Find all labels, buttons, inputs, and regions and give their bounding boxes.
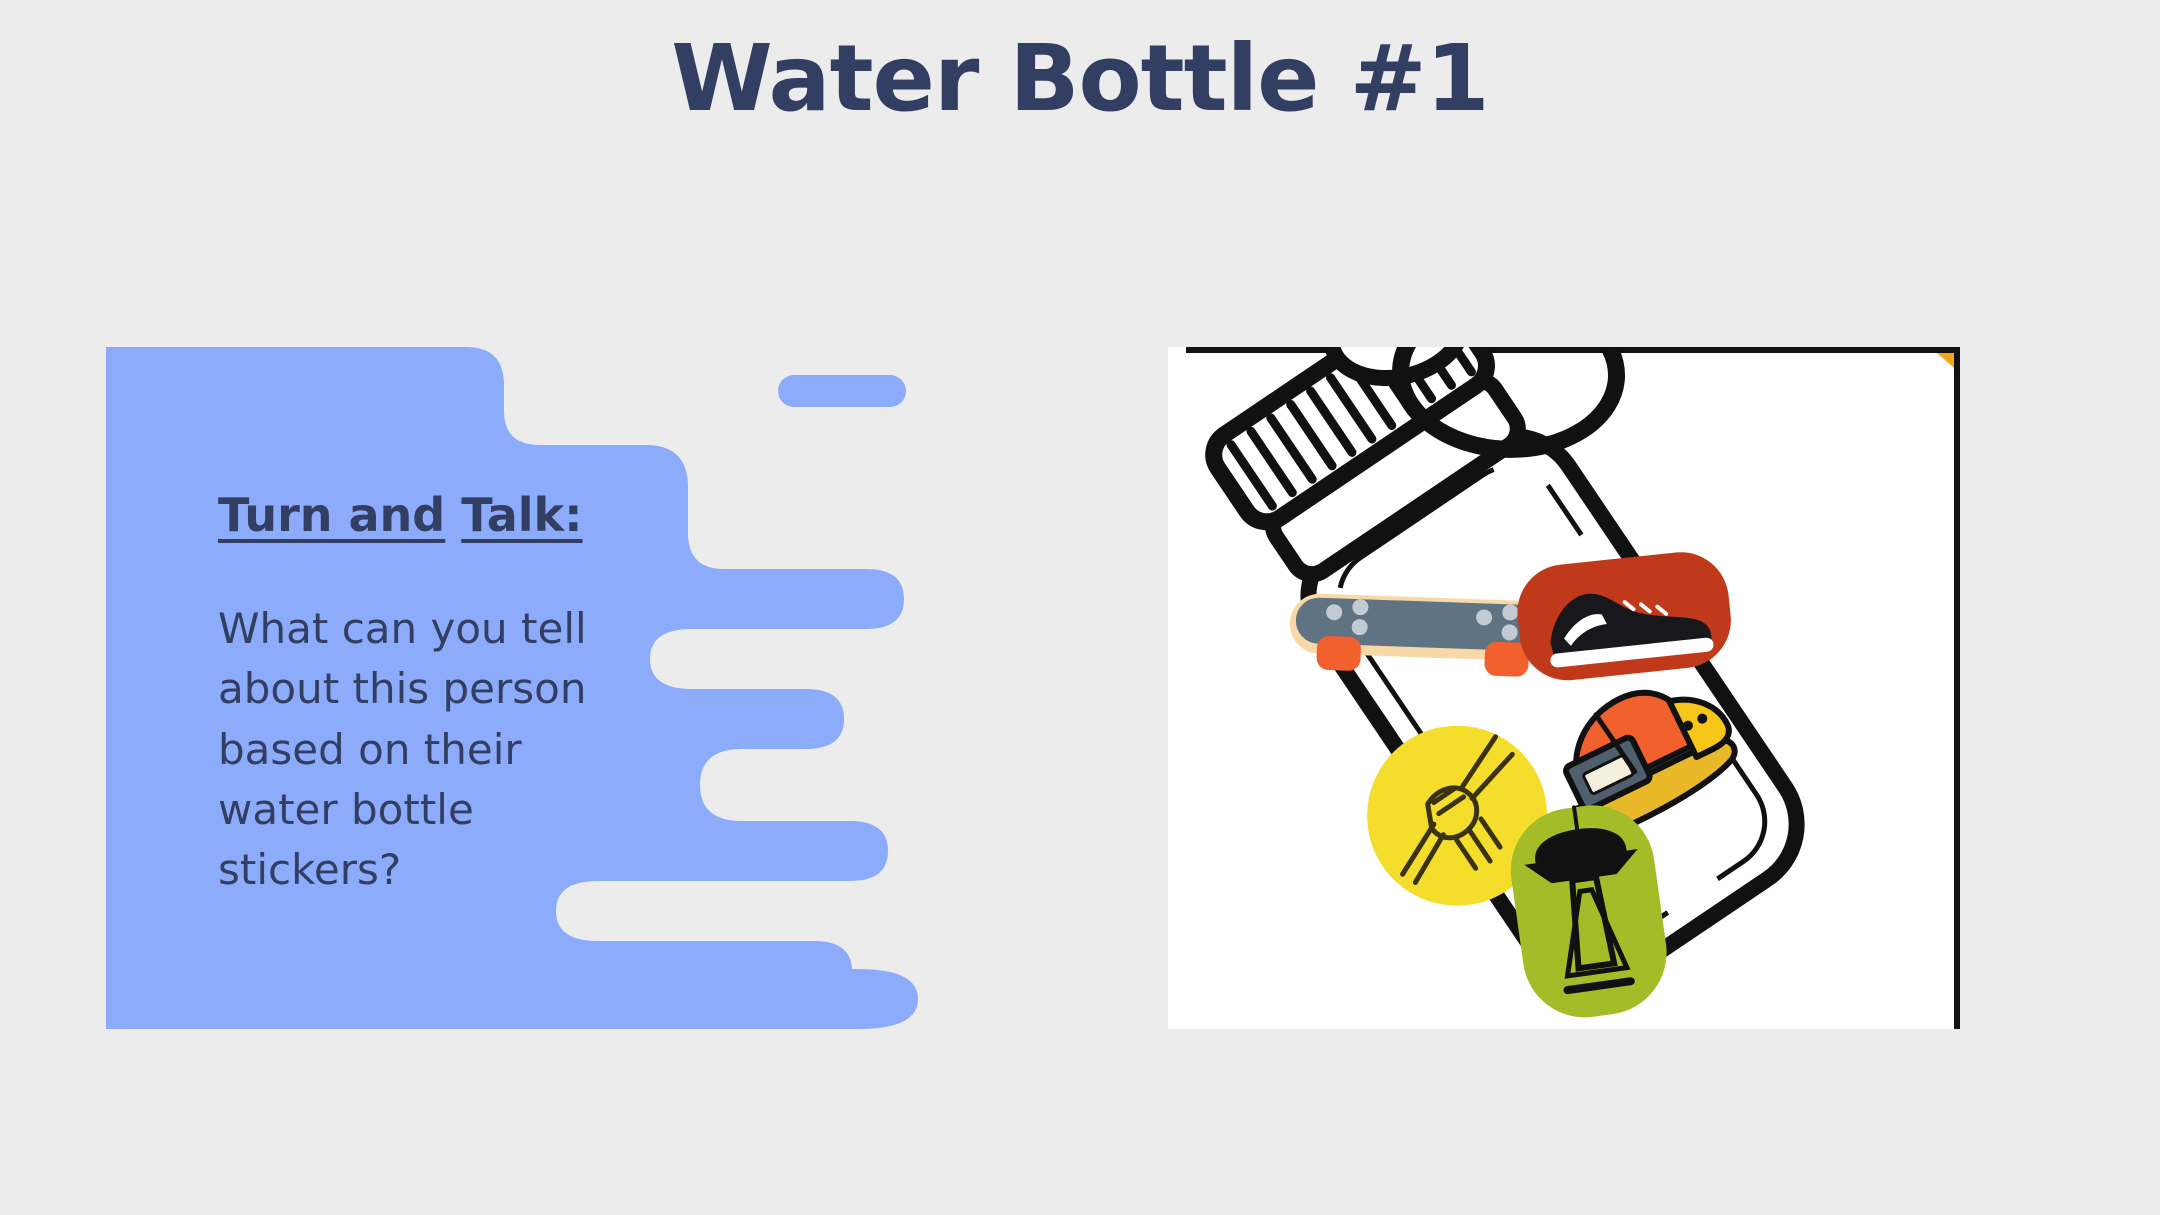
body-line: water bottle <box>218 780 638 840</box>
body-line: based on their <box>218 720 638 780</box>
water-bottle-illustration <box>1168 347 1960 1029</box>
heading-segment-two: Talk: <box>461 488 582 542</box>
drip-lobe-bottom <box>626 969 918 1029</box>
body-line: stickers? <box>218 840 638 900</box>
heading-space <box>445 488 461 542</box>
turn-and-talk-body: What can you tell about this person base… <box>218 599 638 901</box>
turn-and-talk-heading: Turn and Talk: <box>218 490 638 541</box>
water-bottle-image-card <box>1168 347 1960 1029</box>
bottle-group <box>1168 347 1960 1029</box>
drip-pill-detached <box>778 375 906 407</box>
heading-segment-one: Turn and <box>218 488 445 542</box>
body-line: about this person <box>218 659 638 719</box>
turn-and-talk-text-block: Turn and Talk: What can you tell about t… <box>218 490 638 901</box>
page-title: Water Bottle #1 <box>0 28 2160 129</box>
slide-canvas: Water Bottle #1 Turn and Talk: What can … <box>0 0 2160 1215</box>
body-line: What can you tell <box>218 599 638 659</box>
